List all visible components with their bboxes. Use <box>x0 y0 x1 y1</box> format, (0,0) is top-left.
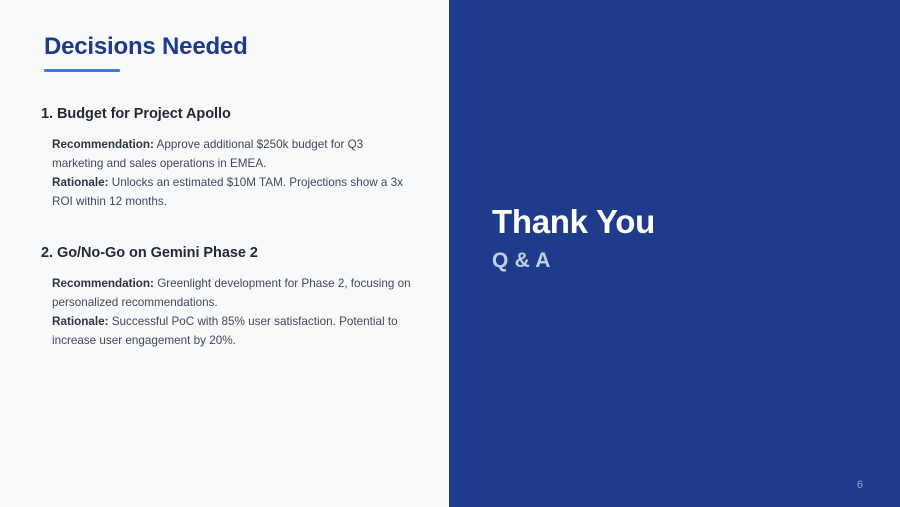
decision-body: Recommendation: Approve additional $250k… <box>52 135 412 211</box>
decisions-list: 1. Budget for Project Apollo Recommendat… <box>0 105 449 383</box>
recommendation-label: Recommendation: <box>52 138 154 151</box>
list-item: 2. Go/No-Go on Gemini Phase 2 Recommenda… <box>0 244 449 350</box>
recommendation-line: Recommendation: Approve additional $250k… <box>52 135 412 173</box>
rationale-label: Rationale: <box>52 315 109 328</box>
thank-you-title: Thank You <box>492 203 655 241</box>
rationale-line: Rationale: Successful PoC with 85% user … <box>52 312 412 350</box>
decision-heading: 2. Go/No-Go on Gemini Phase 2 <box>41 244 419 263</box>
left-content-pane: Decisions Needed 1. Budget for Project A… <box>0 0 449 507</box>
closing-text-group: Thank You Q & A <box>492 203 655 273</box>
page-number: 6 <box>857 480 863 491</box>
closing-panel: Thank You Q & A 6 <box>449 0 900 507</box>
decision-heading: 1. Budget for Project Apollo <box>41 105 419 124</box>
decision-body: Recommendation: Greenlight development f… <box>52 274 412 350</box>
rationale-label: Rationale: <box>52 176 109 189</box>
rationale-line: Rationale: Unlocks an estimated $10M TAM… <box>52 173 412 211</box>
list-item: 1. Budget for Project Apollo Recommendat… <box>0 105 449 211</box>
title-accent-bar <box>44 69 120 72</box>
recommendation-label: Recommendation: <box>52 277 154 290</box>
qa-subtitle: Q & A <box>492 248 655 273</box>
presentation-slide: Decisions Needed 1. Budget for Project A… <box>0 0 900 507</box>
page-title: Decisions Needed <box>44 34 248 60</box>
recommendation-line: Recommendation: Greenlight development f… <box>52 274 412 312</box>
